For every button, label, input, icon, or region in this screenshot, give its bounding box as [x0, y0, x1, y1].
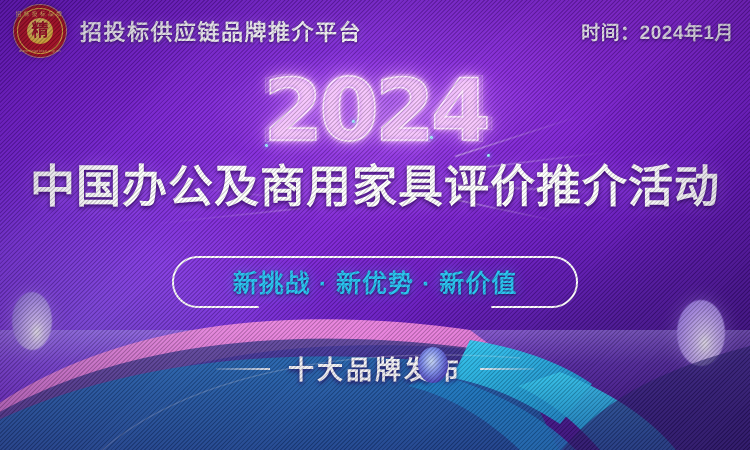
seal-core: 精	[27, 18, 53, 44]
year-echo-outer: 2024	[258, 58, 491, 163]
divider-dash-left	[216, 368, 270, 370]
seal-arc-bottom-text: www.zhaobiao.org.cn	[14, 49, 66, 53]
divider-dash-right	[480, 368, 534, 370]
slogan-pill: 新挑战 · 新优势 · 新价值	[172, 256, 578, 308]
footer-line: 十大品牌发布	[0, 350, 750, 387]
brand-title: 招投标供应链品牌推介平台	[80, 15, 362, 47]
year-label: 2024	[263, 61, 486, 161]
seal-arc-top-text: 招标投标品牌	[14, 10, 66, 18]
sparkle-icon	[265, 144, 268, 147]
seal-core-character: 精	[32, 23, 49, 40]
horizon-glow	[0, 330, 750, 450]
slogan-text: 新挑战 · 新优势 · 新价值	[172, 256, 578, 308]
year-graphic: 2024 2024 2024	[0, 58, 750, 163]
sparkle-icon	[430, 136, 433, 139]
main-title: 中国办公及商用家具评价推介活动	[0, 150, 750, 215]
promo-banner: 招标投标品牌 精 www.zhaobiao.org.cn 招投标供应链品牌推介平…	[0, 0, 750, 450]
event-timestamp: 时间：2024年1月	[581, 18, 734, 45]
banner-header: 招标投标品牌 精 www.zhaobiao.org.cn 招投标供应链品牌推介平…	[0, 0, 750, 62]
glow-orb-left	[12, 292, 52, 350]
year-echo-inner: 2024	[268, 63, 481, 159]
sparkle-icon	[352, 120, 355, 123]
footer-text: 十大品牌发布	[288, 350, 462, 387]
seal-logo: 招标投标品牌 精 www.zhaobiao.org.cn	[14, 5, 66, 57]
